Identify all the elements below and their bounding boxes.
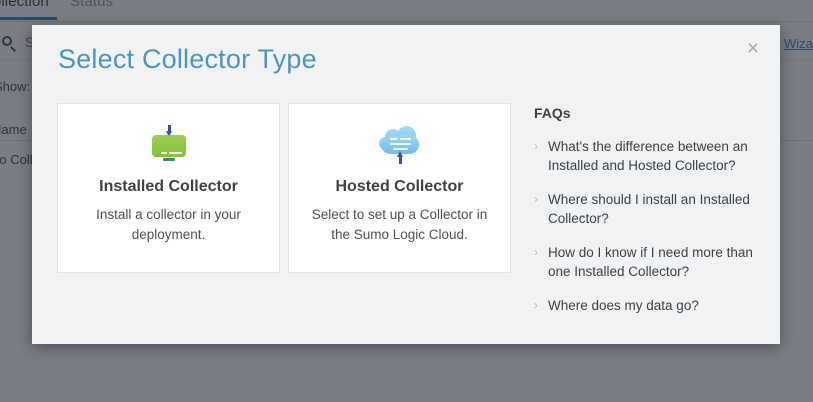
faq-item-1[interactable]: › What's the difference between an Insta…: [534, 137, 756, 175]
faq-item-label: What's the difference between an Install…: [548, 139, 748, 173]
cloud-text-line: [393, 148, 408, 150]
installed-collector-title: Installed Collector: [58, 178, 279, 196]
cloud-upload-icon: [289, 122, 510, 168]
chevron-right-icon: ›: [534, 137, 538, 156]
faqs-heading: FAQs: [534, 105, 756, 121]
cloud-text-line: [390, 138, 398, 140]
screen: Collection Status Search Show: Name No C…: [0, 0, 813, 402]
faqs-section: FAQs › What's the difference between an …: [534, 105, 756, 330]
faq-item-2[interactable]: › Where should I install an Installed Co…: [534, 190, 756, 228]
monitor-download-icon: [58, 122, 279, 168]
screen-text-line: [161, 162, 176, 164]
monitor-stand: [163, 158, 175, 161]
monitor-screen: [152, 135, 186, 157]
hosted-collector-card[interactable]: Hosted Collector Select to set up a Coll…: [288, 103, 511, 273]
page-title: Select Collector Type: [58, 44, 317, 75]
screen-text-line: [161, 152, 167, 154]
select-collector-type-dialog: × Select Collector Type: [32, 25, 780, 344]
cloud-text-line: [390, 143, 411, 145]
chevron-right-icon: ›: [534, 243, 538, 262]
cloud-icon-shape: [378, 125, 422, 165]
installed-collector-card[interactable]: Installed Collector Install a collector …: [57, 103, 280, 273]
chevron-right-icon: ›: [534, 190, 538, 209]
hosted-collector-title: Hosted Collector: [289, 178, 510, 196]
faq-item-label: Where should I install an Installed Coll…: [548, 192, 750, 226]
arrow-shaft: [399, 156, 402, 164]
faq-item-label: Where does my data go?: [548, 298, 699, 313]
chevron-right-icon: ›: [534, 296, 538, 315]
faq-item-4[interactable]: › Where does my data go?: [534, 296, 756, 315]
close-icon[interactable]: ×: [740, 35, 766, 61]
hosted-collector-description: Select to set up a Collector in the Sumo…: [307, 205, 492, 245]
screen-text-line: [169, 152, 182, 154]
monitor-icon-shape: [149, 125, 189, 165]
upload-arrow-icon: [397, 151, 404, 164]
faq-item-3[interactable]: › How do I know if I need more than one …: [534, 243, 756, 281]
cloud-text-line: [400, 138, 411, 140]
installed-collector-description: Install a collector in your deployment.: [76, 205, 261, 245]
faq-item-label: How do I know if I need more than one In…: [548, 245, 753, 279]
